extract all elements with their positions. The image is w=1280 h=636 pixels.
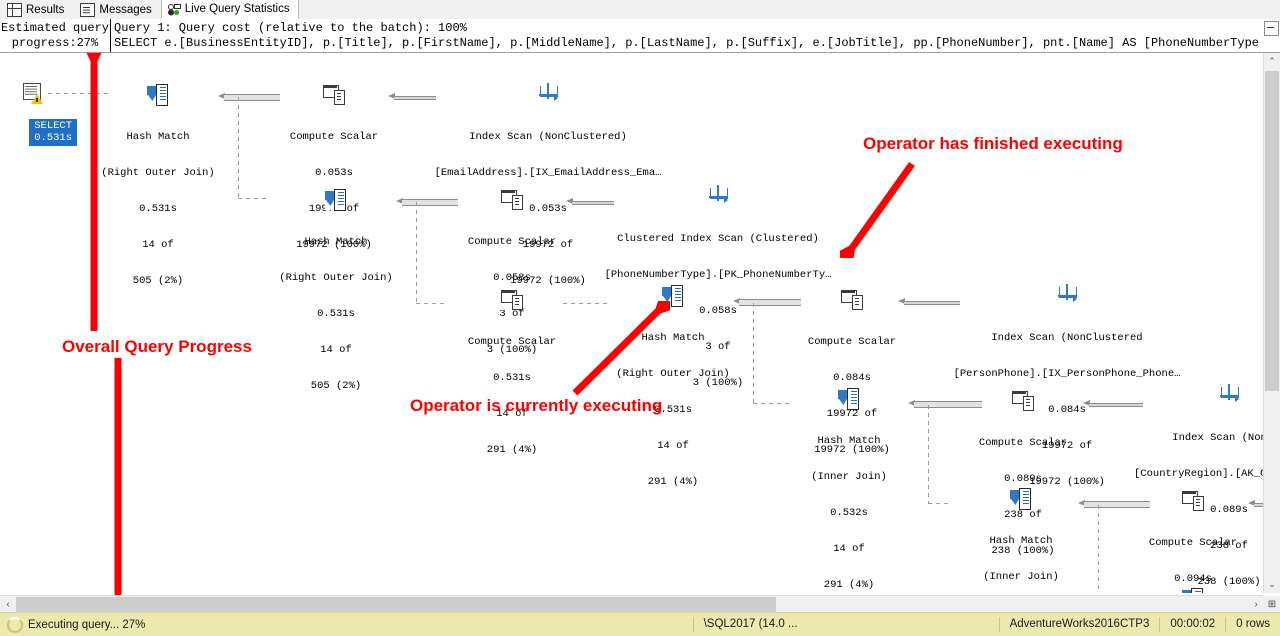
status-database: AdventureWorks2016CTP3 <box>999 617 1160 632</box>
index-scan-icon <box>707 185 729 207</box>
compute-scalar-icon <box>841 288 863 310</box>
status-bar: Executing query... 27% \SQL2017 (14.0 ..… <box>0 612 1280 636</box>
query-cost-line: Query 1: Query cost (relative to the bat… <box>114 21 467 35</box>
hash-match-icon <box>838 387 860 409</box>
plan-vertical-scrollbar[interactable]: ⌃ ⌄ <box>1263 53 1280 593</box>
select-icon <box>21 83 43 105</box>
compute-scalar-icon <box>501 188 523 210</box>
horizontal-scroll-thumb[interactable] <box>16 597 776 612</box>
compute-scalar-icon <box>1012 389 1034 411</box>
plan-node-hash-match-1[interactable]: Hash Match (Right Outer Join) 0.531s 14 … <box>98 59 218 311</box>
plan-node-hash-match-2[interactable]: Hash Match (Right Outer Join) 0.531s 14 … <box>276 164 396 416</box>
index-scan-icon <box>537 83 559 105</box>
index-scan-icon <box>1056 284 1078 306</box>
annotation-progress-arrow-up <box>82 53 106 337</box>
scroll-right-button[interactable]: › <box>1248 596 1264 613</box>
scroll-down-button[interactable]: ⌄ <box>1264 576 1280 593</box>
plan-node-compute-scalar-3[interactable]: Compute Scalar 0.531s 14 of 291 (4%) <box>450 264 574 480</box>
hash-match-icon <box>147 83 169 105</box>
tab-messages-label: Messages <box>99 4 151 16</box>
query-text: Query 1: Query cost (relative to the bat… <box>114 19 1266 52</box>
collapse-query-text-button[interactable] <box>1264 21 1279 36</box>
grid-icon <box>7 3 22 17</box>
status-right-group: \SQL2017 (14.0 ... AdventureWorks2016CTP… <box>693 617 1280 632</box>
plan-node-hash-match-6[interactable]: Hash Match <box>1132 563 1254 593</box>
connector-hash1-cs1 <box>218 93 280 100</box>
annotation-executing-arrow <box>560 301 670 401</box>
annotation-progress-arrow-down <box>106 358 130 626</box>
connector-branch-1b <box>238 198 270 199</box>
status-row-count: 0 rows <box>1225 617 1280 632</box>
annotation-finished-executing: Operator has finished executing <box>863 134 1123 154</box>
hash-match-icon <box>325 188 347 210</box>
plan-node-hash-match-4[interactable]: Hash Match (Inner Join) 0.532s 14 of 291… <box>790 363 908 593</box>
tab-live-query-statistics[interactable]: Live Query Statistics <box>161 0 299 19</box>
plan-node-hash-match-5[interactable]: Hash Match (Inner Join) 0.532s 14 of 291… <box>962 463 1080 593</box>
status-elapsed-time: 00:00:02 <box>1159 617 1225 632</box>
hash-match-icon <box>1182 587 1204 593</box>
status-executing-text: Executing query... 27% <box>28 619 145 631</box>
estimated-progress-line2: progress:27% <box>12 36 98 50</box>
live-query-statistics-icon <box>168 3 181 15</box>
index-scan-icon <box>1218 384 1240 406</box>
tab-live-query-statistics-label: Live Query Statistics <box>185 3 290 15</box>
scroll-corner-button[interactable]: ⊞ <box>1264 596 1280 613</box>
hash-match-icon <box>1010 487 1032 509</box>
plan-horizontal-scrollbar[interactable]: ‹ › <box>0 595 1264 613</box>
annotation-overall-query-progress: Overall Query Progress <box>62 337 252 357</box>
connector-branch-4 <box>928 405 929 503</box>
compute-scalar-icon <box>501 288 523 310</box>
scroll-up-button[interactable]: ⌃ <box>1264 53 1280 70</box>
compute-scalar-icon <box>1182 489 1204 511</box>
results-pane-tabstrip: Results Messages Live Query Statistics <box>0 0 1280 20</box>
plan-node-select[interactable]: SELECT0.531s <box>4 59 60 158</box>
tab-results-label: Results <box>26 4 64 16</box>
compute-scalar-icon <box>323 83 345 105</box>
query-plan-canvas[interactable]: SELECT0.531s Hash Match (Right Outer Joi… <box>0 53 1264 593</box>
tab-results[interactable]: Results <box>0 0 73 19</box>
query-plan-header: Estimated query progress:27% Query 1: Qu… <box>0 19 1280 53</box>
estimated-progress-line1: Estimated query <box>1 21 109 35</box>
scroll-left-button[interactable]: ‹ <box>0 596 16 613</box>
tab-messages[interactable]: Messages <box>73 0 160 19</box>
messages-icon <box>80 3 95 17</box>
connector-branch-2 <box>416 202 417 302</box>
annotation-finished-arrow <box>840 158 920 258</box>
connector-branch-1 <box>238 97 239 197</box>
connector-branch-5 <box>1098 505 1099 593</box>
query-sql-line: SELECT e.[BusinessEntityID], p.[Title], … <box>114 36 1259 50</box>
estimated-query-progress: Estimated query progress:27% <box>0 19 111 52</box>
plan-node-select-box: SELECT0.531s <box>29 119 77 146</box>
status-server: \SQL2017 (14.0 ... <box>693 617 808 632</box>
vertical-scroll-thumb[interactable] <box>1265 71 1279 391</box>
busy-spinner-icon <box>7 617 23 633</box>
